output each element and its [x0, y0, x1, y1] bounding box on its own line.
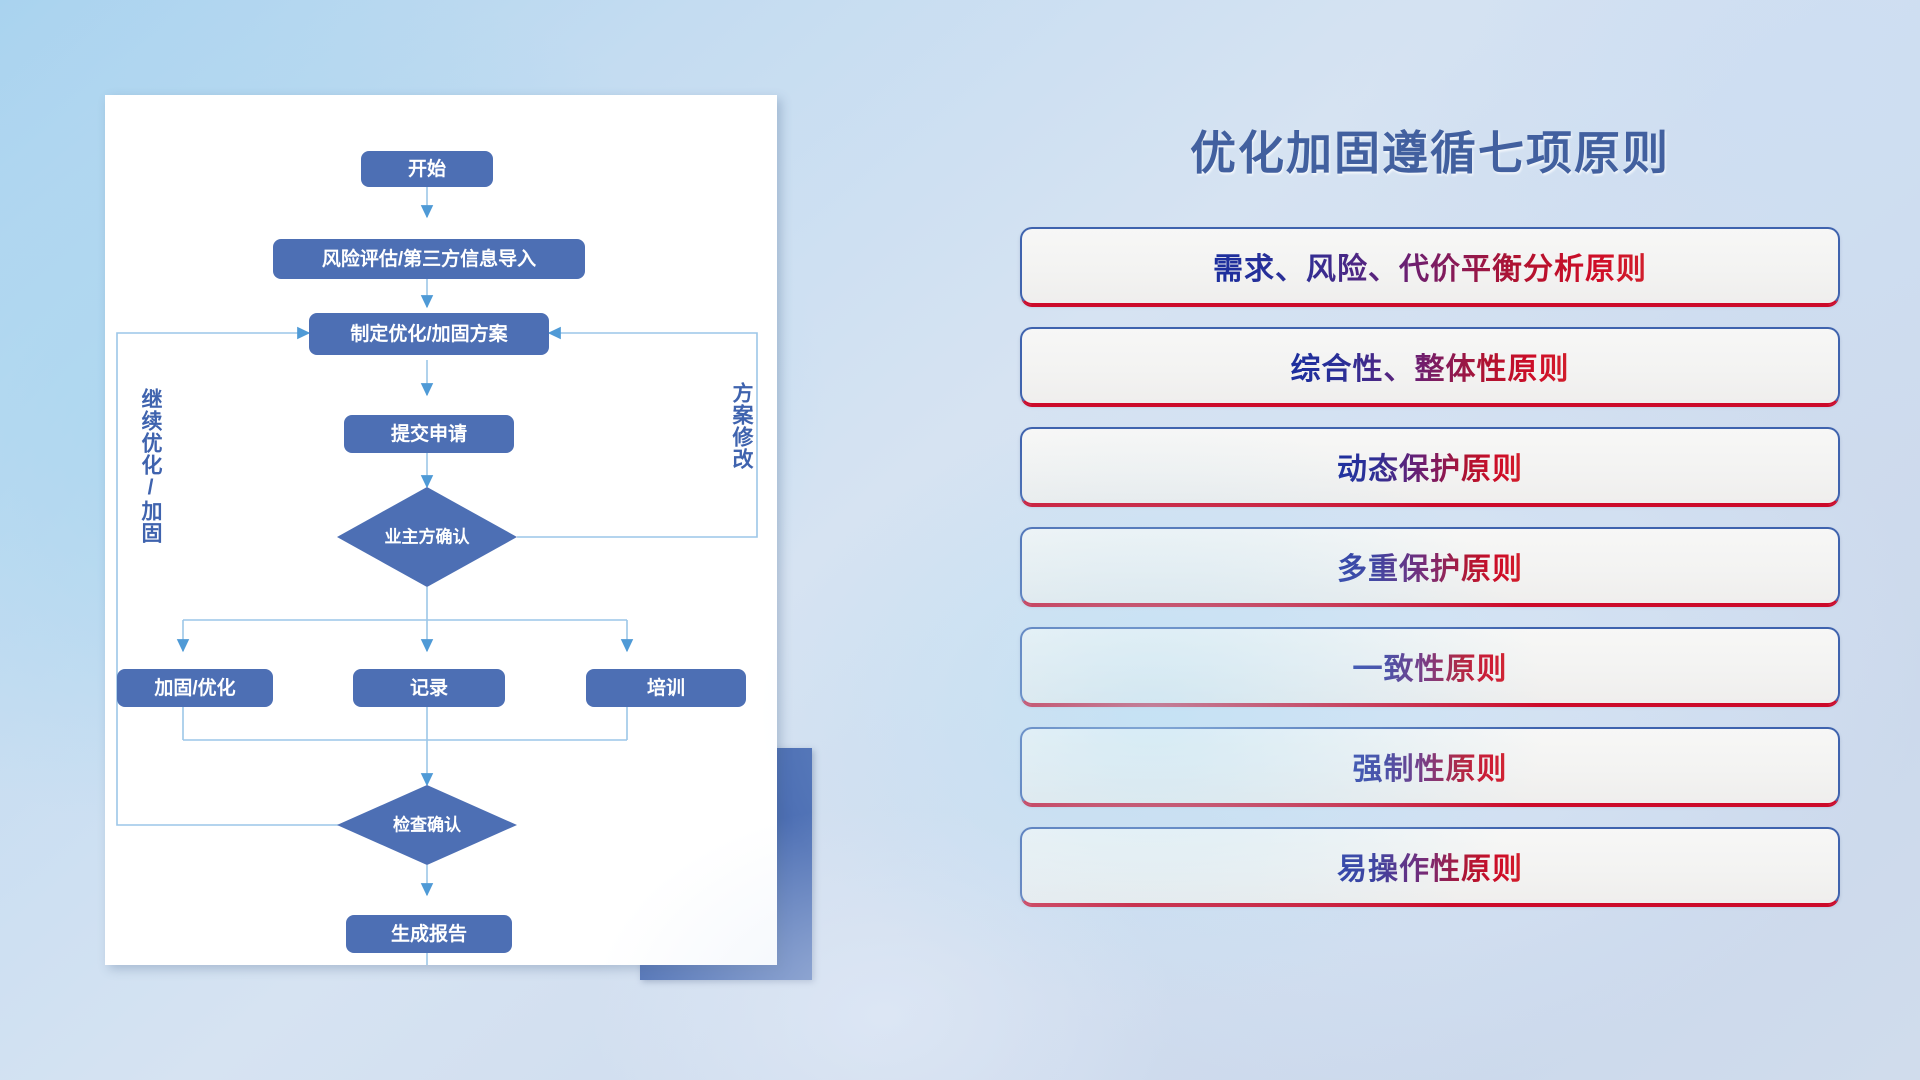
edge-label-plan-revision: 方案修改 — [731, 382, 752, 470]
flow-node-owner-confirm-label: 业主方确认 — [385, 526, 471, 546]
principle-card[interactable]: 一致性原则 — [1020, 627, 1840, 705]
flow-node-generate-report-label: 生成报告 — [391, 922, 467, 945]
principle-card-label: 动态保护原则 — [1337, 444, 1523, 488]
principle-card[interactable]: 需求、风险、代价平衡分析原则 — [1020, 227, 1840, 305]
flow-node-reinforce[interactable]: 加固/优化 — [117, 669, 273, 707]
flow-node-start[interactable]: 开始 — [361, 151, 493, 187]
flowchart-card: 开始 风险评估/第三方信息导入 制定优化/加固方案 提交申请 业主方确认 — [105, 95, 777, 965]
principle-card-label: 易操作性原则 — [1337, 844, 1523, 888]
flow-node-submit-application[interactable]: 提交申请 — [344, 415, 514, 453]
principle-card-label: 综合性、整体性原则 — [1291, 344, 1570, 388]
flow-node-training[interactable]: 培训 — [586, 669, 746, 707]
flow-node-record-label: 记录 — [410, 677, 448, 699]
flow-node-check-confirm-label: 检查确认 — [393, 814, 462, 834]
principle-card[interactable]: 动态保护原则 — [1020, 427, 1840, 505]
principle-card-label: 一致性原则 — [1353, 644, 1508, 688]
principle-card-label: 强制性原则 — [1353, 744, 1508, 788]
flow-node-make-plan-label: 制定优化/加固方案 — [350, 322, 508, 345]
principle-card[interactable]: 多重保护原则 — [1020, 527, 1840, 605]
edge-label-continue-optimize: 继续优化/加固 — [140, 388, 161, 544]
right-feedback-loop — [517, 333, 757, 537]
principles-title: 优化加固遵循七项原则 — [1020, 117, 1840, 183]
flow-node-owner-confirm[interactable]: 业主方确认 — [337, 487, 517, 587]
flow-node-record[interactable]: 记录 — [353, 669, 505, 707]
flow-node-generate-report[interactable]: 生成报告 — [346, 915, 512, 953]
flow-node-reinforce-label: 加固/优化 — [153, 676, 235, 699]
principle-card-label: 需求、风险、代价平衡分析原则 — [1213, 244, 1647, 288]
principles-list: 需求、风险、代价平衡分析原则 综合性、整体性原则 动态保护原则 多重保护原则 一… — [1020, 227, 1840, 905]
flow-node-risk-assessment[interactable]: 风险评估/第三方信息导入 — [273, 239, 585, 279]
slide-canvas: 开始 风险评估/第三方信息导入 制定优化/加固方案 提交申请 业主方确认 — [0, 0, 1920, 1080]
principles-panel: 优化加固遵循七项原则 需求、风险、代价平衡分析原则 综合性、整体性原则 动态保护… — [1020, 105, 1840, 1005]
flow-node-check-confirm[interactable]: 检查确认 — [337, 785, 517, 865]
principle-card-label: 多重保护原则 — [1337, 544, 1523, 588]
flow-node-make-plan[interactable]: 制定优化/加固方案 — [309, 313, 549, 355]
principle-card[interactable]: 易操作性原则 — [1020, 827, 1840, 905]
flow-node-start-label: 开始 — [408, 157, 446, 180]
flow-node-submit-application-label: 提交申请 — [391, 422, 467, 445]
flow-node-risk-assessment-label: 风险评估/第三方信息导入 — [322, 247, 536, 270]
flowchart-diagram: 开始 风险评估/第三方信息导入 制定优化/加固方案 提交申请 业主方确认 — [105, 95, 777, 965]
principle-card[interactable]: 综合性、整体性原则 — [1020, 327, 1840, 405]
flow-node-training-label: 培训 — [647, 676, 685, 699]
principle-card[interactable]: 强制性原则 — [1020, 727, 1840, 805]
